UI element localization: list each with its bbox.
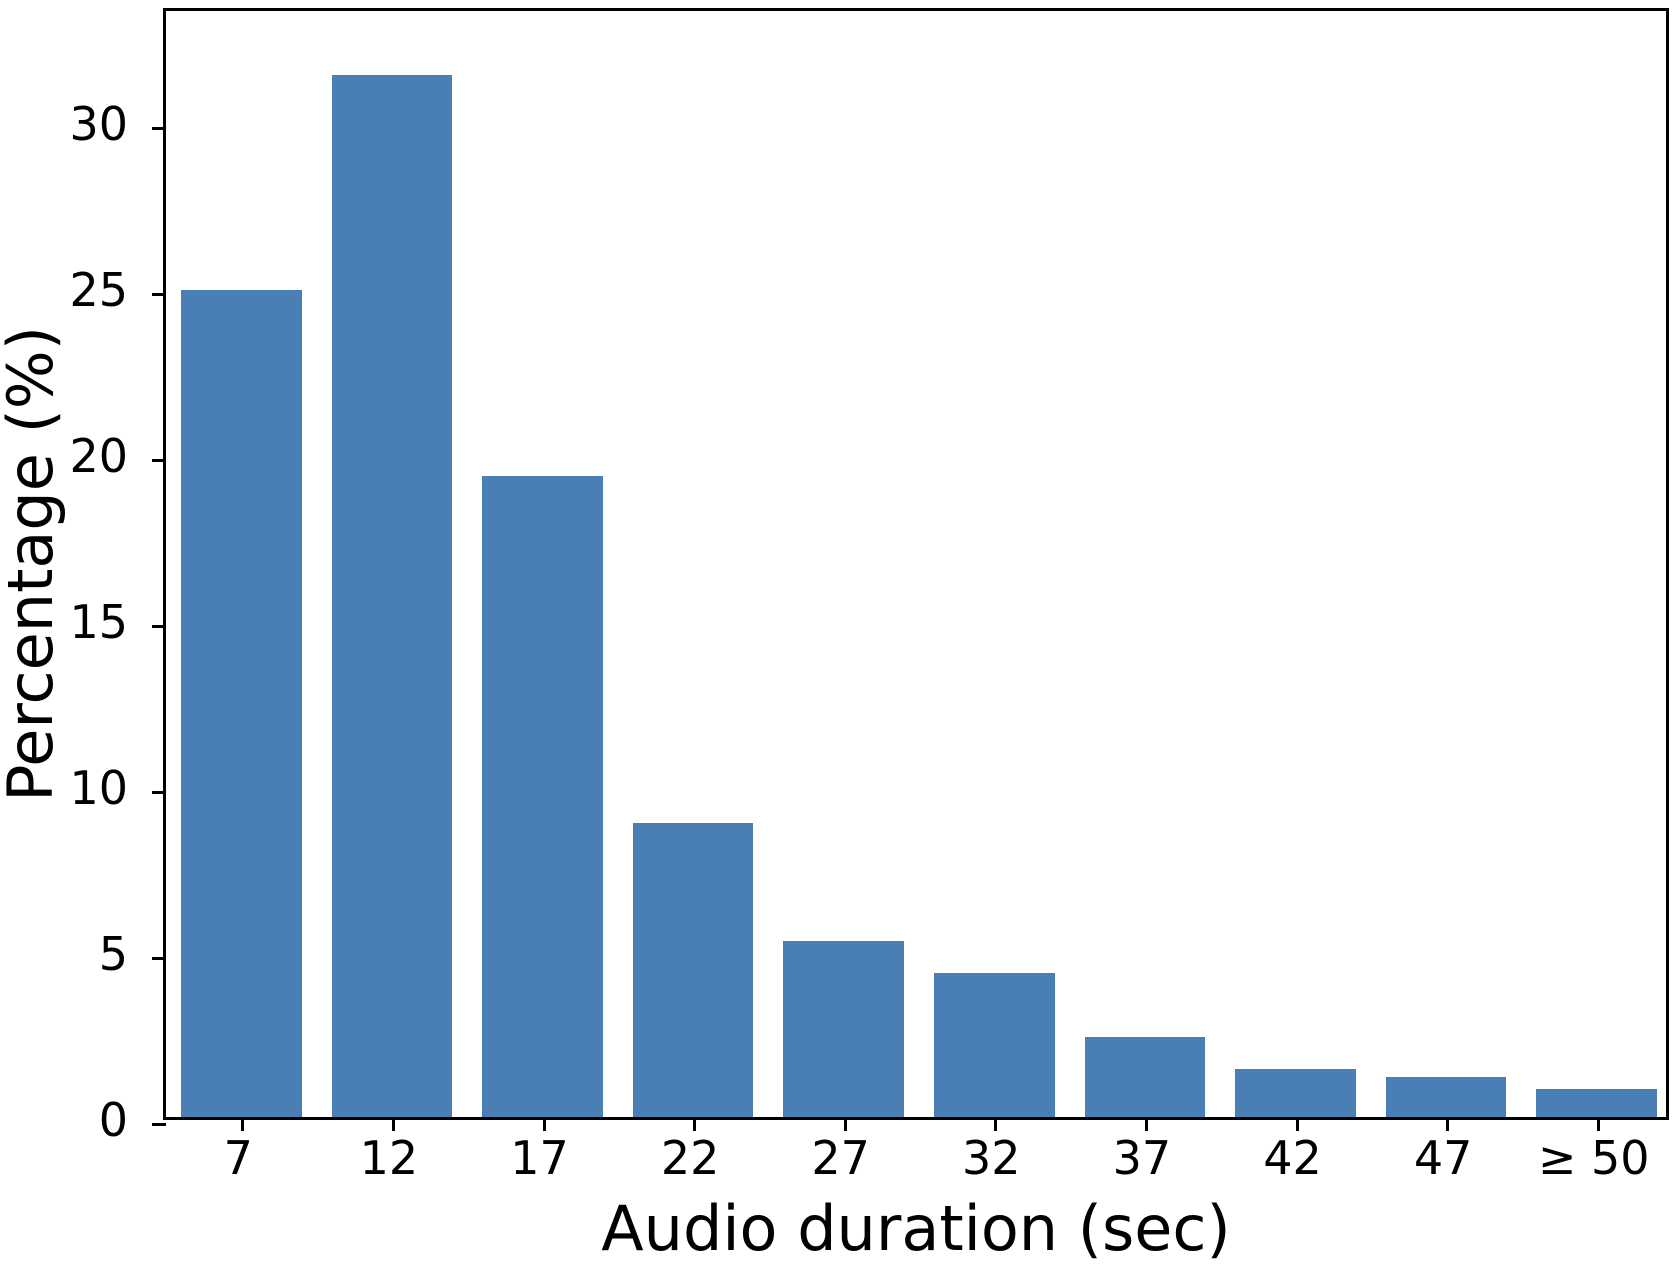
y-axis-tick: [152, 293, 166, 296]
x-axis-tick: [1446, 1117, 1449, 1131]
bar: [1085, 1037, 1205, 1117]
x-axis-tick-label: 42: [1263, 1135, 1322, 1181]
x-axis-tick-label: 32: [962, 1135, 1021, 1181]
bar: [1536, 1089, 1656, 1117]
x-axis-title: Audio duration (sec): [163, 1196, 1669, 1261]
y-axis-tick-label: 15: [69, 599, 128, 645]
y-axis-tick-label: 30: [69, 101, 128, 147]
y-axis-tick-label: 0: [99, 1097, 128, 1143]
x-axis-tick: [1597, 1117, 1600, 1131]
x-axis-tick-label: 37: [1113, 1135, 1172, 1181]
x-axis-tick: [994, 1117, 997, 1131]
y-axis-title: Percentage (%): [0, 8, 62, 1120]
x-axis-tick-label: 22: [661, 1135, 720, 1181]
bar: [633, 823, 753, 1117]
bar: [783, 941, 903, 1117]
y-axis-tick-label: 20: [69, 433, 128, 479]
y-axis-tick: [152, 957, 166, 960]
bar: [1235, 1069, 1355, 1117]
x-axis-tick: [844, 1117, 847, 1131]
x-axis-tick: [1145, 1117, 1148, 1131]
y-axis-tick: [152, 127, 166, 130]
x-axis-tick-label: 27: [811, 1135, 870, 1181]
x-axis-tick: [241, 1117, 244, 1131]
x-axis-tick-label: ≥ 50: [1538, 1135, 1650, 1181]
bar: [1386, 1077, 1506, 1117]
plot-axes: [163, 8, 1669, 1120]
y-axis-tick-label: 10: [69, 765, 128, 811]
y-axis-tick: [152, 791, 166, 794]
bar: [482, 476, 602, 1117]
x-axis-tick: [392, 1117, 395, 1131]
y-axis-tick-label: 25: [69, 267, 128, 313]
figure-canvas: 051015202530 Percentage (%) 712172227323…: [0, 0, 1677, 1271]
y-axis-tick: [152, 625, 166, 628]
x-axis-tick-label: 17: [510, 1135, 569, 1181]
x-axis-tick: [543, 1117, 546, 1131]
y-axis-tick-label: 5: [99, 931, 128, 977]
y-axis-tick: [152, 459, 166, 462]
x-axis-tick: [1296, 1117, 1299, 1131]
y-axis-tick: [152, 1123, 166, 1126]
x-axis-tick-label: 47: [1414, 1135, 1473, 1181]
bar: [332, 75, 452, 1117]
bar: [181, 290, 301, 1117]
bar: [934, 973, 1054, 1117]
x-axis-tick-label: 7: [224, 1135, 253, 1181]
plot-area: [166, 11, 1666, 1117]
x-axis-tick: [693, 1117, 696, 1131]
x-axis-tick-label: 12: [360, 1135, 419, 1181]
